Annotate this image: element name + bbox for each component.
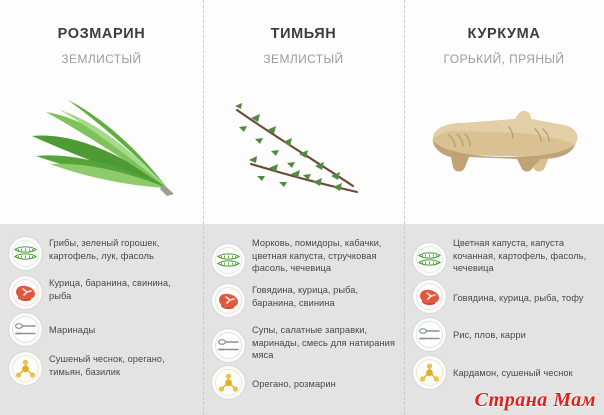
vegetables-icon [9,237,42,270]
list-item-text: Рис, плов, карри [453,319,526,342]
list-item-text: Маринады [49,315,95,337]
column-rosemary: РОЗМАРИН ЗЕМЛИСТЫЙ [0,0,203,415]
list-item-text: Говядина, курица, рыба, тофу [453,282,584,305]
list-item-text: Морковь, помидоры, кабачки, цветная капу… [252,236,396,275]
herb-flavor-subtitle: ЗЕМЛИСТЫЙ [61,53,141,65]
spices-icon [212,366,245,399]
spices-icon [413,356,446,389]
list-item: Орегано, розмарин [212,368,396,399]
column-divider [404,0,405,415]
rosemary-usage-list: Грибы, зеленый горошек, картофель, лук, … [0,224,203,415]
utensils-icon [9,313,42,346]
thyme-sprig-illustration [203,65,404,225]
list-item: Говядина, курица, рыба, баранина, свинин… [212,283,396,317]
column-header-turmeric: КУРКУМА ГОРЬКИЙ, ПРЯНЫЙ [404,0,604,224]
herb-title: ТИМЬЯН [271,27,337,42]
list-item: Маринады [9,315,195,346]
list-item-text: Кардамон, сушеный чеснок [453,357,573,380]
rosemary-sprig-illustration [0,65,203,225]
meat-icon [413,280,446,313]
list-item-text: Орегано, розмарин [252,368,336,391]
site-logo: Страна Мам [475,389,596,412]
list-item: Грибы, зеленый горошек, картофель, лук, … [9,236,195,270]
list-item-text: Говядина, курица, рыба, баранина, свинин… [252,283,396,309]
list-item: Рис, плов, карри [413,319,596,351]
vegetables-icon [413,243,446,276]
list-item-text: Сушеный чеснок, орегано, тимьян, базилик [49,352,195,378]
column-divider [203,0,204,415]
column-header-thyme: ТИМЬЯН ЗЕМЛИСТЫЙ [203,0,404,224]
column-header-rosemary: РОЗМАРИН ЗЕМЛИСТЫЙ [0,0,203,224]
column-turmeric: КУРКУМА ГОРЬКИЙ, ПРЯНЫЙ [404,0,604,415]
list-item: Супы, салатные заправки, маринады, смесь… [212,323,396,362]
spices-icon [9,352,42,385]
utensils-icon [212,329,245,362]
herb-title: РОЗМАРИН [58,27,146,42]
column-thyme: ТИМЬЯН ЗЕМЛИСТЫЙ [203,0,404,415]
vegetables-icon [212,244,245,277]
turmeric-usage-list: Цветная капуста, капуста кочанная, карто… [404,224,604,415]
herb-title: КУРКУМА [468,27,541,42]
list-item-text: Цветная капуста, капуста кочанная, карто… [453,236,596,275]
list-item: Кардамон, сушеный чеснок [413,357,596,389]
list-item-text: Супы, салатные заправки, маринады, смесь… [252,323,396,362]
list-item-text: Грибы, зеленый горошек, картофель, лук, … [49,236,195,262]
meat-icon [9,276,42,309]
list-item: Морковь, помидоры, кабачки, цветная капу… [212,236,396,277]
infographic-board: КУХНЯ ДОМА КУХНЯ ДОМА КУХНЯ ДОМА КУХНЯ Д… [0,0,604,415]
columns-container: РОЗМАРИН ЗЕМЛИСТЫЙ [0,0,604,415]
list-item: Говядина, курица, рыба, тофу [413,282,596,313]
turmeric-root-illustration [404,65,604,225]
list-item: Цветная капуста, капуста кочанная, карто… [413,236,596,276]
herb-flavor-subtitle: ГОРЬКИЙ, ПРЯНЫЙ [444,53,565,65]
list-item: Сушеный чеснок, орегано, тимьян, базилик [9,352,195,385]
herb-flavor-subtitle: ЗЕМЛИСТЫЙ [263,53,343,65]
meat-icon [212,284,245,317]
list-item: Курица, баранина, свинина, рыба [9,276,195,309]
thyme-usage-list: Морковь, помидоры, кабачки, цветная капу… [203,224,404,415]
list-item-text: Курица, баранина, свинина, рыба [49,276,195,302]
utensils-icon [413,318,446,351]
